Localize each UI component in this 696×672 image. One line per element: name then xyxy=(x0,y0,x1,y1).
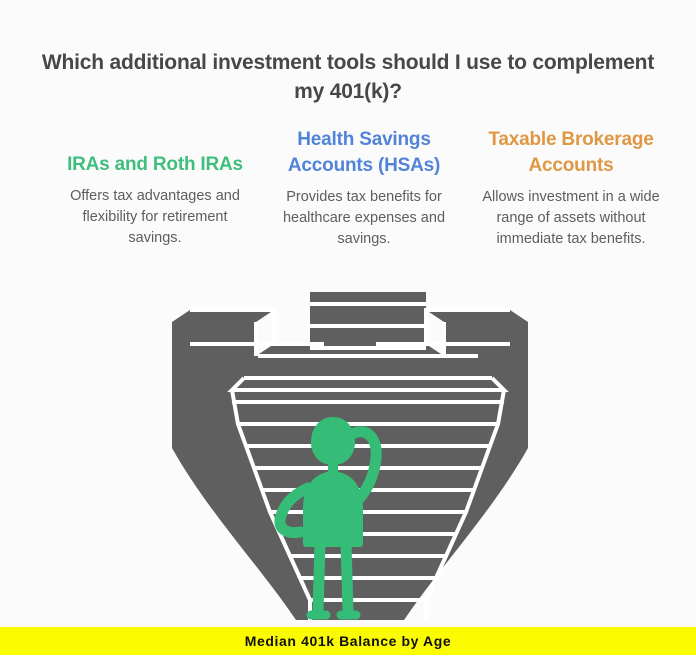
person-head xyxy=(314,420,352,462)
page-title: Which additional investment tools should… xyxy=(28,48,668,106)
column-heading-brokerage: Taxable Brokerage Accounts xyxy=(476,127,666,179)
footer-white-strip xyxy=(0,655,696,672)
person-torso xyxy=(306,474,360,544)
footer-banner-text: Median 401k Balance by Age xyxy=(245,633,452,649)
staircase-illustration xyxy=(128,282,572,620)
column-body-iras: Offers tax advantages and flexibility fo… xyxy=(56,186,254,249)
column-iras-and-roth-iras: IRAs and Roth IRAs Offers tax advantages… xyxy=(56,152,254,249)
column-body-brokerage: Allows investment in a wide range of ass… xyxy=(476,187,666,250)
column-taxable-brokerage-accounts: Taxable Brokerage Accounts Allows invest… xyxy=(476,127,666,250)
column-heading-hsa: Health Savings Accounts (HSAs) xyxy=(258,127,470,179)
column-heading-iras: IRAs and Roth IRAs xyxy=(56,152,254,178)
column-body-hsa: Provides tax benefits for healthcare exp… xyxy=(258,187,470,250)
footer-banner: Median 401k Balance by Age xyxy=(0,627,696,655)
person-left-leg xyxy=(318,544,320,612)
person-right-leg xyxy=(346,544,348,612)
infographic-canvas: Which additional investment tools should… xyxy=(0,0,696,672)
column-health-savings-accounts: Health Savings Accounts (HSAs) Provides … xyxy=(258,127,470,250)
